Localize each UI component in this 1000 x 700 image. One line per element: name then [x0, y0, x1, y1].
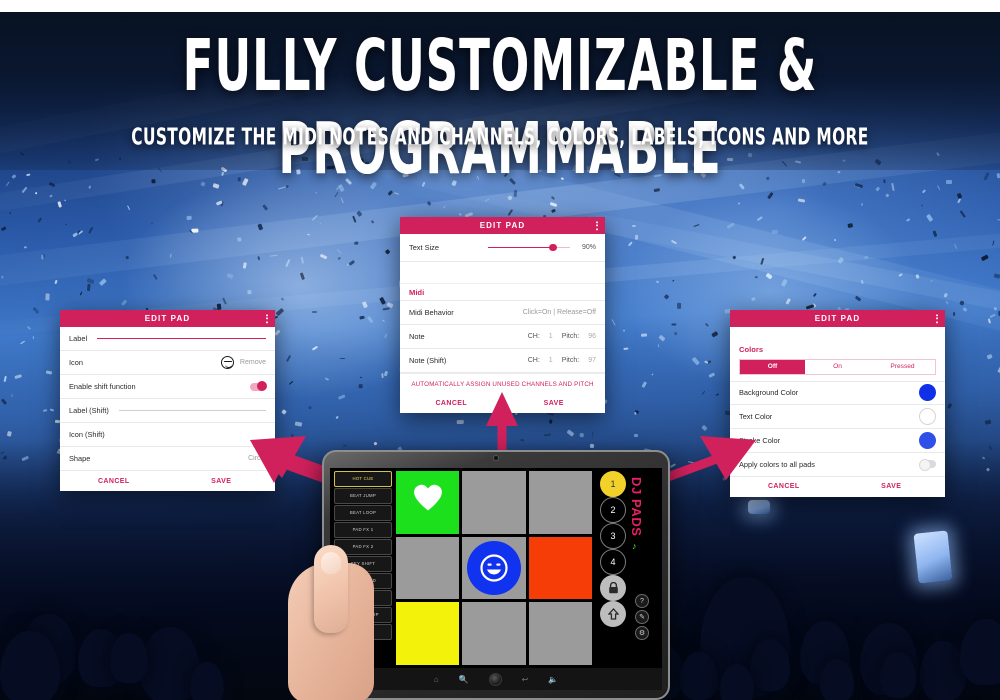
icon-field-label: Icon	[69, 358, 83, 367]
crowd-head	[750, 639, 790, 691]
pad-9[interactable]	[529, 602, 592, 665]
home-button[interactable]	[489, 673, 502, 686]
dialog-title-bar: EDIT PAD	[730, 310, 945, 327]
edit-pencil-icon[interactable]: ✎	[635, 610, 649, 624]
note-shift-label: Note (Shift)	[409, 356, 446, 365]
hand-holding-tablet	[288, 545, 384, 700]
label-shift-label: Label (Shift)	[69, 406, 109, 415]
dialog-footer: CANCEL SAVE	[60, 471, 275, 491]
icon-shift-row[interactable]: Icon (Shift)	[60, 423, 275, 447]
note-pitch-label: Pitch:	[562, 333, 580, 340]
dialog-title: EDIT PAD	[145, 314, 191, 323]
stroke-color-swatch[interactable]	[919, 432, 936, 449]
enable-shift-row[interactable]: Enable shift function	[60, 375, 275, 399]
fx-menu-item[interactable]: HOT CUE	[334, 471, 392, 487]
tab-pressed[interactable]: Pressed	[870, 360, 935, 374]
background-color-label: Background Color	[739, 388, 798, 397]
help-icon[interactable]: ?	[635, 594, 649, 608]
edit-pad-dialog-midi[interactable]: EDIT PAD Text Size 90% Midi Midi Behavio…	[400, 217, 605, 413]
pad-7[interactable]	[396, 602, 459, 665]
home-icon[interactable]: ⌂	[434, 675, 439, 684]
front-camera	[494, 456, 498, 460]
label-shift-input[interactable]	[119, 410, 266, 411]
volume-icon[interactable]: 🔈	[548, 675, 558, 684]
search-icon[interactable]: 🔍	[459, 675, 469, 684]
edit-pad-dialog-colors[interactable]: EDIT PAD Colors Off On Pressed Backgroun…	[730, 310, 945, 497]
crowd-head	[960, 619, 1000, 685]
note-pitch-value: 96	[588, 333, 596, 340]
crowd-head	[920, 641, 966, 700]
shape-row[interactable]: Shape Circle	[60, 447, 275, 471]
shift-up-icon[interactable]	[600, 601, 626, 627]
text-size-label: Text Size	[409, 243, 439, 252]
back-icon[interactable]: ↩	[522, 675, 529, 684]
shape-label: Shape	[69, 454, 90, 463]
note-shift-pitch-value: 97	[588, 357, 596, 364]
pad-5[interactable]	[462, 537, 525, 600]
dialog-title-bar: EDIT PAD	[60, 310, 275, 327]
save-button[interactable]: SAVE	[838, 483, 946, 490]
top-white-band	[0, 0, 1000, 12]
crowd-head	[190, 662, 224, 700]
fx-menu-item[interactable]: BEAT JUMP	[334, 488, 392, 504]
smiley-icon	[467, 541, 521, 595]
icon-row[interactable]: Icon Remove	[60, 351, 275, 375]
label-shift-row[interactable]: Label (Shift)	[60, 399, 275, 423]
color-state-tabs[interactable]: Off On Pressed	[739, 359, 936, 375]
remove-icon-button[interactable]: Remove	[240, 359, 266, 366]
dialog-title: EDIT PAD	[480, 221, 526, 230]
pad-8[interactable]	[462, 602, 525, 665]
background-color-swatch[interactable]	[919, 384, 936, 401]
bank-button-3[interactable]: 3	[600, 523, 626, 549]
label-row[interactable]: Label	[60, 327, 275, 351]
label-field-label: Label	[69, 334, 87, 343]
pad-grid[interactable]	[396, 471, 592, 665]
thumb	[314, 545, 348, 633]
crowd-head	[680, 652, 718, 700]
smiley-icon[interactable]	[221, 356, 234, 369]
bank-button-2[interactable]: 2	[600, 497, 626, 523]
pad-1[interactable]	[396, 471, 459, 534]
midi-behavior-label: Midi Behavior	[409, 308, 454, 317]
dialog-title-bar: EDIT PAD	[400, 217, 605, 234]
text-color-swatch[interactable]	[919, 408, 936, 425]
bank-button-1[interactable]: 1	[600, 471, 626, 497]
note-shift-row[interactable]: Note (Shift) CH: 1 Pitch: 97	[400, 349, 605, 373]
midi-behavior-row[interactable]: Midi Behavior Click=On | Release=Off	[400, 301, 605, 325]
fx-menu-item[interactable]: PAD FX 1	[334, 522, 392, 538]
tab-off[interactable]: Off	[740, 360, 805, 374]
colors-section-header: Colors	[730, 341, 945, 354]
text-color-row[interactable]: Text Color	[730, 405, 945, 429]
pad-6[interactable]	[529, 537, 592, 600]
enable-shift-label: Enable shift function	[69, 382, 136, 391]
enable-shift-toggle[interactable]	[250, 383, 266, 391]
crowd-head	[880, 652, 916, 698]
midi-behavior-value: Click=On | Release=Off	[523, 309, 596, 316]
raised-phone-screen	[913, 530, 952, 583]
bank-button-4[interactable]: 4	[600, 549, 626, 575]
note-ch-label: CH:	[528, 333, 540, 340]
dialog-title: EDIT PAD	[815, 314, 861, 323]
pad-3[interactable]	[529, 471, 592, 534]
stroke-color-row[interactable]: Stroke Color	[730, 429, 945, 453]
crowd-head	[110, 633, 148, 683]
note-shift-ch-label: CH:	[528, 357, 540, 364]
label-input[interactable]	[97, 338, 266, 339]
overflow-menu-icon[interactable]	[936, 314, 938, 323]
app-brand-label: DJ PADS	[629, 477, 644, 537]
midi-section-header: Midi	[400, 284, 605, 301]
text-size-value: 90%	[582, 244, 596, 251]
background-color-row[interactable]: Background Color	[730, 381, 945, 405]
right-rail[interactable]: DJ PADS ♪ 1 2 3 4 ? ✎ ⚙	[596, 471, 658, 665]
tab-on[interactable]: On	[805, 360, 870, 374]
text-size-slider[interactable]	[488, 243, 570, 253]
fx-menu-item[interactable]: BEAT LOOP	[334, 505, 392, 521]
auto-assign-button[interactable]: AUTOMATICALLY ASSIGN UNUSED CHANNELS AND…	[400, 373, 605, 393]
spacer	[730, 327, 945, 341]
settings-gear-icon[interactable]: ⚙	[635, 626, 649, 640]
note-label: Note	[409, 332, 425, 341]
overflow-menu-icon[interactable]	[266, 314, 268, 323]
overflow-menu-icon[interactable]	[596, 221, 598, 230]
note-shift-ch-value: 1	[549, 357, 553, 364]
text-size-row[interactable]: Text Size 90%	[400, 234, 605, 262]
pad-4[interactable]	[396, 537, 459, 600]
dialog-footer: CANCEL SAVE	[730, 477, 945, 497]
note-shift-pitch-label: Pitch:	[562, 357, 580, 364]
cancel-button[interactable]: CANCEL	[60, 478, 168, 485]
apply-all-pads-toggle[interactable]	[920, 460, 936, 468]
spacer	[400, 262, 605, 284]
promo-screenshot: FULLY CUSTOMIZABLE & PROGRAMMABLE CUSTOM…	[0, 0, 1000, 700]
apply-all-pads-row[interactable]: Apply colors to all pads	[730, 453, 945, 477]
page-subtitle: CUSTOMIZE THE MIDI NOTES AND CHANNELS, C…	[25, 124, 975, 151]
heart-icon	[413, 483, 443, 516]
note-row[interactable]: Note CH: 1 Pitch: 96	[400, 325, 605, 349]
edit-pad-dialog-general[interactable]: EDIT PAD Label Icon Remove Enable shift …	[60, 310, 275, 491]
pad-2[interactable]	[462, 471, 525, 534]
music-note-icon: ♪	[632, 541, 637, 551]
thumbnail	[321, 552, 341, 574]
note-ch-value: 1	[549, 333, 553, 340]
text-color-label: Text Color	[739, 412, 772, 421]
icon-shift-label: Icon (Shift)	[69, 430, 105, 439]
page-title: FULLY CUSTOMIZABLE & PROGRAMMABLE	[35, 24, 965, 190]
lock-icon[interactable]	[600, 575, 626, 601]
